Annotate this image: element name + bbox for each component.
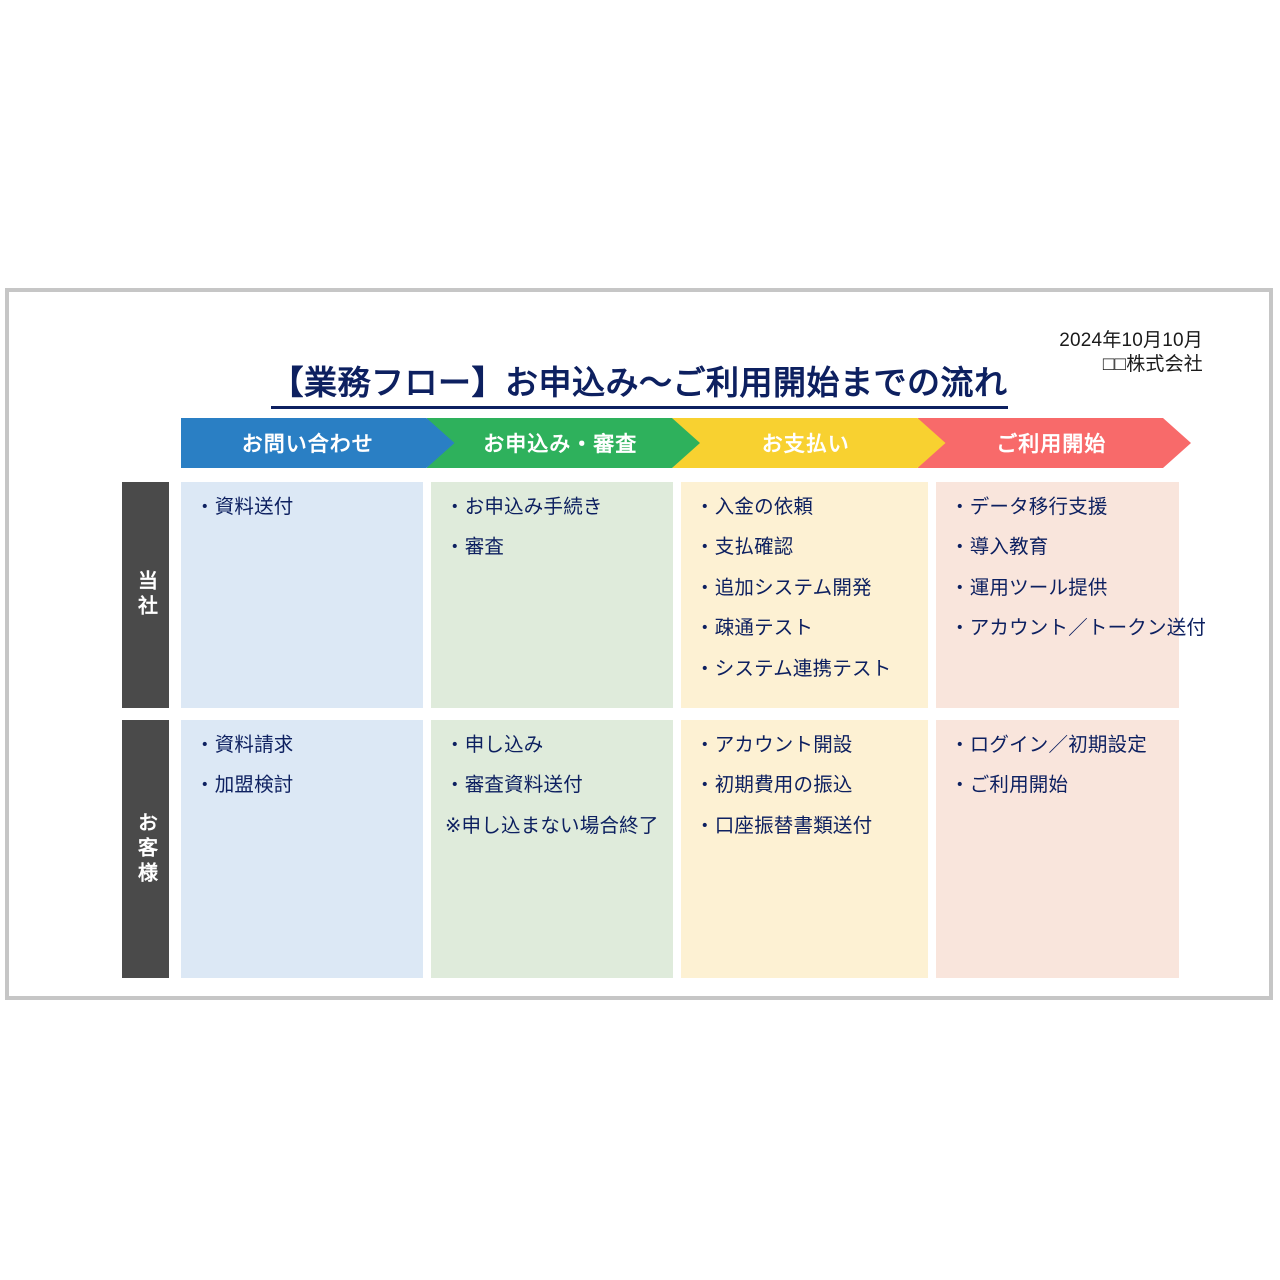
cell-item: ・口座振替書類送付 [695,816,914,836]
phase-chevron-2[interactable]: お申込み・審査 [427,418,701,468]
matrix-cell-r2-c1: ・資料請求・加盟検討 [181,720,423,978]
cell-item: ・データ移行支援 [950,497,1165,517]
cell-item: ・疎通テスト [695,618,914,638]
cell-item: ・資料請求 [195,735,409,755]
cell-item: ・審査資料送付 [445,775,659,795]
phase-chevron-label: お申込み・審査 [469,428,657,458]
slide-frame: 2024年10月10月 □□株式会社 【業務フロー】お申込み～ご利用開始までの流… [5,288,1273,1000]
cell-item: ・導入教育 [950,537,1165,557]
cell-item: ・システム連携テスト [695,659,914,679]
phase-chevron-bar: お問い合わせお申込み・審査お支払いご利用開始 [181,418,1191,468]
matrix-cell-r1-c1: ・資料送付 [181,482,423,708]
cell-item: ※申し込まない場合終了 [445,816,659,836]
cell-item: ・アカウント開設 [695,735,914,755]
phase-chevron-4[interactable]: ご利用開始 [918,418,1192,468]
cell-item: ・ログイン／初期設定 [950,735,1165,755]
cell-item: ・ご利用開始 [950,775,1165,795]
phase-chevron-label: ご利用開始 [982,428,1126,458]
cell-item: ・申し込み [445,735,659,755]
phase-chevron-1[interactable]: お問い合わせ [181,418,455,468]
cell-item: ・お申込み手続き [445,497,659,517]
document-date: 2024年10月10月 [1059,329,1203,353]
cell-item: ・資料送付 [195,497,409,517]
phase-chevron-label: お支払い [748,428,870,458]
matrix-cell-r2-c2: ・申し込み・審査資料送付※申し込まない場合終了 [431,720,673,978]
cell-item: ・初期費用の振込 [695,775,914,795]
cell-item: ・審査 [445,537,659,557]
cell-item: ・加盟検討 [195,775,409,795]
matrix-cell-r1-c2: ・お申込み手続き・審査 [431,482,673,708]
cell-item: ・運用ツール提供 [950,578,1165,598]
matrix-cell-r1-c4: ・データ移行支援・導入教育・運用ツール提供・アカウント／トークン送付 [936,482,1179,708]
page-title: 【業務フロー】お申込み～ご利用開始までの流れ [9,356,1269,409]
cell-item: ・アカウント／トークン送付 [950,618,1165,638]
row-label-1: 当社 [122,482,169,708]
matrix-cell-r2-c3: ・アカウント開設・初期費用の振込・口座振替書類送付 [681,720,928,978]
phase-chevron-label: お問い合わせ [242,428,394,458]
row-label-text: 当社 [136,570,156,620]
matrix-cell-r1-c3: ・入金の依頼・支払確認・追加システム開発・疎通テスト・システム連携テスト [681,482,928,708]
row-label-text: お客様 [136,812,156,887]
matrix-cell-r2-c4: ・ログイン／初期設定・ご利用開始 [936,720,1179,978]
cell-item: ・追加システム開発 [695,578,914,598]
phase-chevron-3[interactable]: お支払い [672,418,946,468]
cell-item: ・支払確認 [695,537,914,557]
cell-item: ・入金の依頼 [695,497,914,517]
page-title-text: 【業務フロー】お申込み～ご利用開始までの流れ [271,356,1008,409]
row-label-2: お客様 [122,720,169,978]
